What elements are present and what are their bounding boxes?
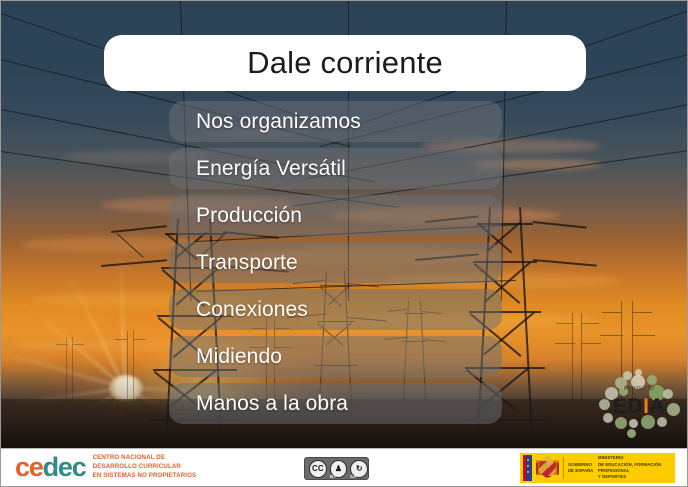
page-title: Dale corriente — [247, 45, 443, 81]
menu-item-nos-organizamos[interactable]: Nos organizamos — [169, 101, 502, 142]
edia-logo-subtitle: PROYECTO — [597, 386, 681, 392]
cedec-tagline-line3: EN SISTEMAS NO PROPIETARIOS — [93, 472, 197, 481]
cedec-word-ce: ce — [15, 452, 43, 482]
spanish-flag-icon — [523, 455, 532, 481]
menu-item-manos-a-la-obra[interactable]: Manos a la obra — [169, 383, 502, 424]
logo-divider — [563, 457, 564, 479]
cedec-tagline: CENTRO NACIONAL DE DESARROLLO CURRICULAR… — [93, 454, 197, 480]
menu-item-conexiones[interactable]: Conexiones — [169, 289, 502, 330]
spanish-coat-of-arms-icon — [536, 456, 559, 480]
menu-item-produccion[interactable]: Producción — [169, 195, 502, 236]
menu-item-label: Producción — [169, 204, 302, 228]
cedec-tagline-line1: CENTRO NACIONAL DE — [93, 454, 197, 463]
creative-commons-badge[interactable]: CC ♟ ↻ BY SA — [304, 457, 369, 480]
transmission-tower — [121, 331, 139, 399]
edia-blob — [627, 429, 636, 438]
menu-item-label: Manos a la obra — [169, 392, 348, 416]
cedec-word-dec: dec — [43, 452, 86, 482]
menu-item-midiendo[interactable]: Midiendo — [169, 336, 502, 377]
menu-item-transporte[interactable]: Transporte — [169, 242, 502, 283]
cc-sa-label: SA — [350, 474, 357, 479]
menu-item-label: Energía Versátil — [169, 157, 346, 181]
menu-item-label: Conexiones — [169, 298, 308, 322]
ministerio-label: MINISTERIO DE EDUCACIÓN, FORMACIÓN PROFE… — [598, 455, 672, 480]
menu-item-label: Nos organizamos — [169, 110, 361, 134]
menu-item-label: Midiendo — [169, 345, 282, 369]
cedec-tagline-line2: DESARROLLO CURRICULAR — [93, 463, 197, 472]
edia-word-a: A — [649, 395, 665, 418]
transmission-tower — [61, 337, 77, 399]
cc-by-label: BY — [330, 474, 337, 479]
edia-logo: PROYECTO EDIA — [597, 369, 681, 439]
navigation-menu: Nos organizamos Energía Versátil Producc… — [169, 101, 502, 430]
cc-icon: CC — [309, 460, 327, 478]
gobierno-de-espana-logo[interactable]: GOBIERNO DE ESPAÑA MINISTERIO DE EDUCACI… — [520, 453, 675, 483]
slide-title-box: Dale corriente — [104, 35, 586, 91]
presentation-slide: Dale corriente Nos organizamos Energía V… — [0, 0, 688, 487]
edia-blob — [629, 419, 638, 428]
edia-word-ed: ED — [613, 395, 643, 418]
cedec-logo[interactable]: cedec CENTRO NACIONAL DE DESARROLLO CURR… — [15, 454, 196, 481]
menu-item-label: Transporte — [169, 251, 298, 275]
menu-item-energia-versatil[interactable]: Energía Versátil — [169, 148, 502, 189]
gobierno-label: GOBIERNO DE ESPAÑA — [568, 462, 594, 475]
edia-logo-wordmark: EDIA — [597, 395, 681, 419]
cedec-wordmark: cedec — [15, 454, 86, 481]
edia-blob — [647, 375, 657, 385]
footer: cedec CENTRO NACIONAL DE DESARROLLO CURR… — [1, 448, 687, 487]
transmission-tower — [565, 313, 589, 401]
